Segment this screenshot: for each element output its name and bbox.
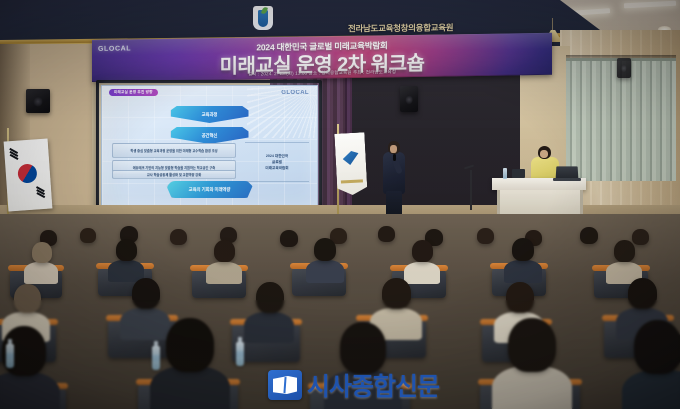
organization-flag <box>334 132 367 195</box>
organization-flag-emblem <box>342 151 359 166</box>
laptop-base <box>553 178 581 181</box>
open-book-logo-icon <box>268 370 302 400</box>
presenter <box>381 141 407 215</box>
event-banner: GLOCAL 2024 대한민국 글로벌 미래교육박람회 미래교실 운영 2차 … <box>92 33 552 82</box>
slide-row-2-text: 에듀테크 기반의 지능형 맞춤형 학습을 지원하는 학교공간 구축 <box>133 166 215 170</box>
desk-monitor <box>512 169 525 178</box>
slide-row-3: 교사 학습공동체 활성화 및 교원역량 강화 <box>112 170 236 179</box>
slide-flow-step-2-label: 공간혁신 <box>202 133 218 139</box>
jeonnam-education-emblem-icon <box>253 6 273 30</box>
mic-stand <box>470 170 472 210</box>
venue-wall-sign: 전라남도교육청창의융합교육원 <box>348 21 453 34</box>
water-bottle-1 <box>6 344 14 368</box>
desk-bottle <box>503 168 507 179</box>
newspaper-name: 시사종합신문 <box>307 367 439 403</box>
wall-speaker-right <box>400 86 418 112</box>
projection-screen: 미래교실 운영 추진 방향 GLOCAL 교육과정 공간혁신 학생 중심 맞춤형… <box>101 85 318 207</box>
slide-logo: GLOCAL <box>281 90 309 96</box>
slide-side-line-1: 2024 대한민국 <box>266 154 288 159</box>
taeguk-symbol <box>14 160 41 187</box>
slide-side-line-3: 미래교육박람회 <box>265 166 288 171</box>
slide-row-3-text: 교사 학습공동체 활성화 및 교원역량 강화 <box>147 173 201 177</box>
slide-flow-step-1-label: 교육과정 <box>202 112 218 118</box>
slide-row-1: 학생 중심 맞춤형 교육과정 운영을 위한 미래형 교수학습 환경 조성 <box>112 143 236 158</box>
pendant-lamp <box>552 18 553 32</box>
newspaper-watermark: 시사종합신문 <box>268 367 439 403</box>
microphone-icon <box>393 154 396 161</box>
slide-heading-tag: 미래교실 운영 추진 방향 <box>109 89 158 96</box>
slide-outcome-label: 교육의 기회와 미래역량 <box>189 187 231 193</box>
slide-row-1-text: 학생 중심 맞춤형 교육과정 운영을 위한 미래형 교수학습 환경 조성 <box>130 149 217 153</box>
korean-national-flag <box>4 139 53 212</box>
wall-speaker-left <box>26 89 50 113</box>
water-bottle-3 <box>236 342 244 366</box>
wall-speaker-far-right <box>617 58 631 78</box>
slide-outcome: 교육의 기회와 미래역량 <box>167 181 253 198</box>
slide-side-panel: 2024 대한민국 글로벌 미래교육박람회 <box>245 142 309 182</box>
conference-photo: 전라남도교육청창의융합교육원 GLOCAL 2024 대한민국 글로벌 미래교육… <box>0 0 680 409</box>
slide-side-line-2: 글로벌 <box>272 160 282 165</box>
water-bottle-2 <box>152 346 160 370</box>
